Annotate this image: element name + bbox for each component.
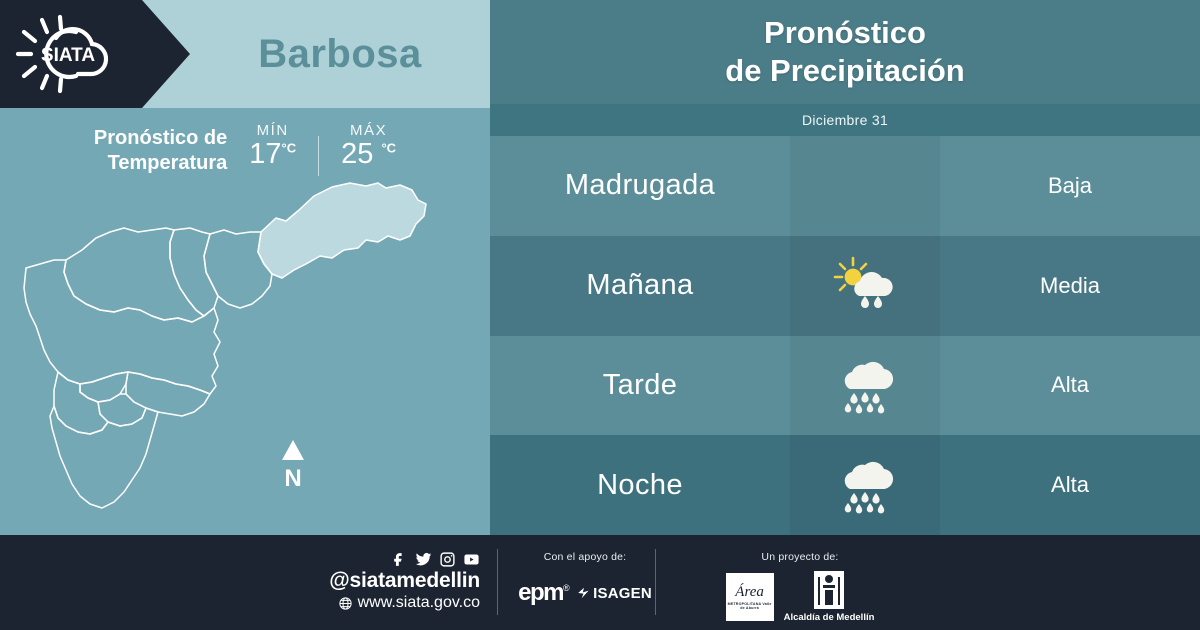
- weather-icon-cell: [790, 435, 940, 535]
- precipitation-title-line2: de Precipitación: [725, 53, 964, 88]
- project-block: Un proyecto de: Área METROPOLITANA Valle…: [700, 551, 900, 623]
- amva-wordmark: Área: [735, 585, 764, 600]
- temperature-min-label: MÍN: [249, 122, 296, 139]
- precipitation-panel: Pronóstico de Precipitación Diciembre 31…: [490, 0, 1200, 535]
- temperature-forecast-block: Pronóstico de Temperatura MÍN 17°C MÁX 2…: [0, 120, 490, 182]
- precipitation-header: Pronóstico de Precipitación: [490, 0, 1200, 104]
- forecast-row-manana[interactable]: Mañana: [490, 236, 1200, 336]
- weather-icon-cell: [790, 136, 940, 236]
- social-icons: [300, 551, 480, 568]
- precipitation-level: Alta: [940, 336, 1200, 436]
- alcaldia-shield-icon: [814, 571, 844, 609]
- map-region-copacabana[interactable]: [170, 228, 218, 316]
- temperature-title-line1: Pronóstico de: [94, 127, 227, 149]
- area-metropolitana-logo[interactable]: Área METROPOLITANA Valle de Aburrá: [726, 573, 774, 621]
- footer-divider-1: [497, 549, 498, 615]
- temperature-title-line2: Temperatura: [108, 152, 228, 174]
- heavy-rain-cloud-icon: [833, 455, 897, 515]
- forecast-row-noche[interactable]: Noche Al: [490, 435, 1200, 535]
- sun-cloud-rain-icon: [833, 256, 897, 316]
- globe-icon: [338, 596, 353, 611]
- period-label: Mañana: [490, 236, 790, 336]
- instagram-icon[interactable]: [439, 551, 456, 568]
- left-header-bar: SIATA Barbosa: [0, 0, 490, 108]
- map-region-envigado[interactable]: [126, 372, 210, 416]
- precipitation-level: Media: [940, 236, 1200, 336]
- alcaldia-logo[interactable]: Alcaldía de Medellín: [784, 571, 875, 623]
- social-block: @siatamedellin www.siata.gov.co: [300, 551, 480, 612]
- siata-logo-text: SIATA: [41, 45, 95, 66]
- alcaldia-text: Alcaldía de Medellín: [784, 612, 875, 623]
- support-logos: epm® ISAGEN: [505, 579, 665, 607]
- period-label: Tarde: [490, 336, 790, 436]
- isagen-text: ISAGEN: [593, 585, 652, 602]
- period-label: Noche: [490, 435, 790, 535]
- support-block: Con el apoyo de: epm® ISAGEN: [505, 551, 665, 607]
- temperature-title: Pronóstico de Temperatura: [94, 120, 227, 176]
- precipitation-title-line1: Pronóstico: [764, 15, 926, 50]
- weather-icon-cell: [790, 236, 940, 336]
- temperature-min: MÍN 17°C: [249, 120, 296, 169]
- north-label: N: [284, 465, 301, 490]
- crescent-moon-icon: [833, 156, 897, 216]
- amva-subtext: METROPOLITANA Valle de Aburrá: [726, 602, 774, 610]
- footer: @siatamedellin www.siata.gov.co Con el a…: [0, 535, 1200, 630]
- forecast-row-madrugada[interactable]: Madrugada Baja: [490, 136, 1200, 236]
- weather-forecast-infographic: SIATA Barbosa Pronóstico de Temperatura …: [0, 0, 1200, 630]
- project-logos: Área METROPOLITANA Valle de Aburrá: [700, 571, 900, 623]
- aburra-valley-map: [14, 174, 476, 532]
- temperature-min-value: 17°C: [249, 139, 296, 169]
- twitter-icon[interactable]: [415, 551, 432, 568]
- forecast-row-tarde[interactable]: Tarde Al: [490, 336, 1200, 436]
- map-region-sabaneta[interactable]: [98, 394, 146, 426]
- youtube-icon[interactable]: [463, 551, 480, 568]
- city-title: Barbosa: [190, 0, 490, 108]
- epm-registered-mark: ®: [563, 583, 568, 593]
- isagen-logo[interactable]: ISAGEN: [577, 585, 652, 602]
- website-row[interactable]: www.siata.gov.co: [300, 594, 480, 612]
- heavy-rain-cloud-icon: [833, 355, 897, 415]
- map-region-caldas[interactable]: [50, 406, 158, 508]
- left-panel: SIATA Barbosa Pronóstico de Temperatura …: [0, 0, 490, 535]
- map-region-bello[interactable]: [64, 228, 204, 322]
- map-region-barbosa[interactable]: [258, 183, 426, 278]
- footer-divider-2: [655, 549, 656, 615]
- sun-cloud-icon: SIATA: [14, 14, 132, 94]
- min-number: 17: [249, 138, 281, 170]
- north-arrow-icon: N: [276, 438, 310, 490]
- map-panel: Pronóstico de Temperatura MÍN 17°C MÁX 2…: [0, 108, 490, 535]
- max-number: 25: [341, 138, 373, 170]
- epm-logo[interactable]: epm®: [518, 579, 568, 607]
- social-handle[interactable]: @siatamedellin: [300, 569, 480, 593]
- map-region-medellin[interactable]: [24, 260, 220, 394]
- temperature-max-value: 25 °C: [341, 139, 396, 169]
- precipitation-level: Baja: [940, 136, 1200, 236]
- temperature-max-label: MÁX: [341, 122, 396, 139]
- temperature-max: MÁX 25 °C: [341, 120, 396, 169]
- forecast-date-band: Diciembre 31: [490, 104, 1200, 136]
- min-unit: °C: [282, 140, 297, 155]
- map-region-la-estrella[interactable]: [54, 372, 108, 434]
- precipitation-title: Pronóstico de Precipitación: [725, 14, 964, 90]
- temperature-divider: [318, 136, 319, 176]
- weather-icon-cell: [790, 336, 940, 436]
- max-unit: °C: [381, 140, 396, 155]
- forecast-date: Diciembre 31: [802, 112, 888, 128]
- forecast-rows: Madrugada Baja Mañana: [490, 136, 1200, 535]
- isagen-mark-icon: [577, 586, 591, 600]
- epm-text: epm: [518, 579, 563, 606]
- website-text: www.siata.gov.co: [358, 594, 480, 612]
- support-label: Con el apoyo de:: [505, 551, 665, 563]
- period-label: Madrugada: [490, 136, 790, 236]
- precipitation-level: Alta: [940, 435, 1200, 535]
- facebook-icon[interactable]: [391, 551, 408, 568]
- project-label: Un proyecto de:: [700, 551, 900, 563]
- siata-logo-badge: SIATA: [0, 0, 190, 108]
